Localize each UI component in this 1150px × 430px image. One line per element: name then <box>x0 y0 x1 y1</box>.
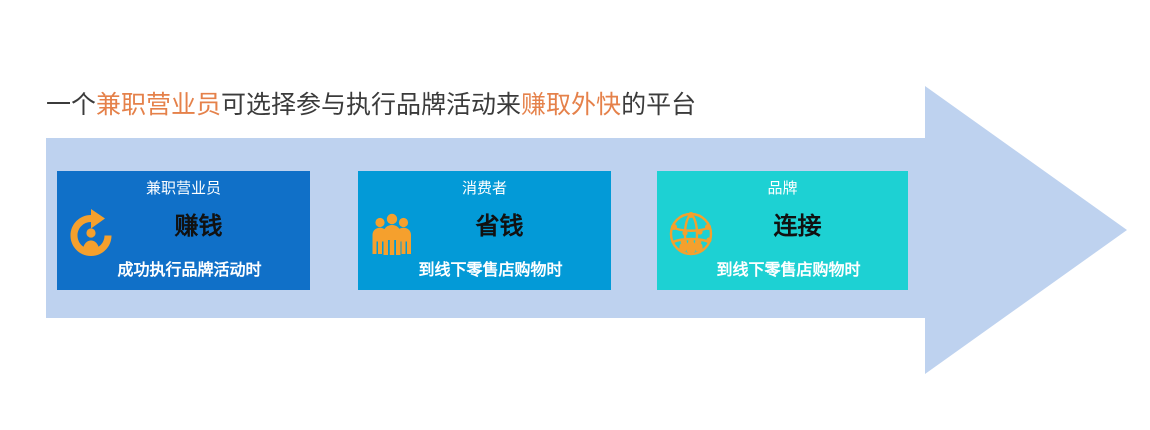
card-title: 连接 <box>657 212 908 242</box>
card-row: 兼职营业员 赚钱 成功执行品牌活动时 消费者 <box>57 171 917 290</box>
card-header-label: 消费者 <box>358 179 611 199</box>
card-part-time-clerk[interactable]: 兼职营业员 赚钱 成功执行品牌活动时 <box>57 171 310 290</box>
headline-segment-4: 的平台 <box>621 91 696 119</box>
card-footer-label: 成功执行品牌活动时 <box>57 260 310 282</box>
card-footer-label: 到线下零售店购物时 <box>657 260 908 282</box>
headline-segment-3: 赚取外快 <box>521 91 621 119</box>
headline-segment-1: 兼职营业员 <box>96 91 221 119</box>
card-header-label: 兼职营业员 <box>57 179 310 199</box>
card-brand[interactable]: 品牌 <box>657 171 908 290</box>
headline-segment-2: 可选择参与执行品牌活动来 <box>221 91 521 119</box>
slide-canvas: 一个兼职营业员可选择参与执行品牌活动来赚取外快的平台 兼职营业员 赚钱 成功执行… <box>0 0 1150 430</box>
headline-segment-0: 一个 <box>46 91 96 119</box>
card-header-label: 品牌 <box>657 179 908 199</box>
card-title: 省钱 <box>358 212 611 242</box>
page-title: 一个兼职营业员可选择参与执行品牌活动来赚取外快的平台 <box>46 88 696 122</box>
card-footer-label: 到线下零售店购物时 <box>358 260 611 282</box>
card-title: 赚钱 <box>57 212 310 242</box>
card-consumer[interactable]: 消费者 省钱 到线下零售店购物时 <box>358 171 611 290</box>
